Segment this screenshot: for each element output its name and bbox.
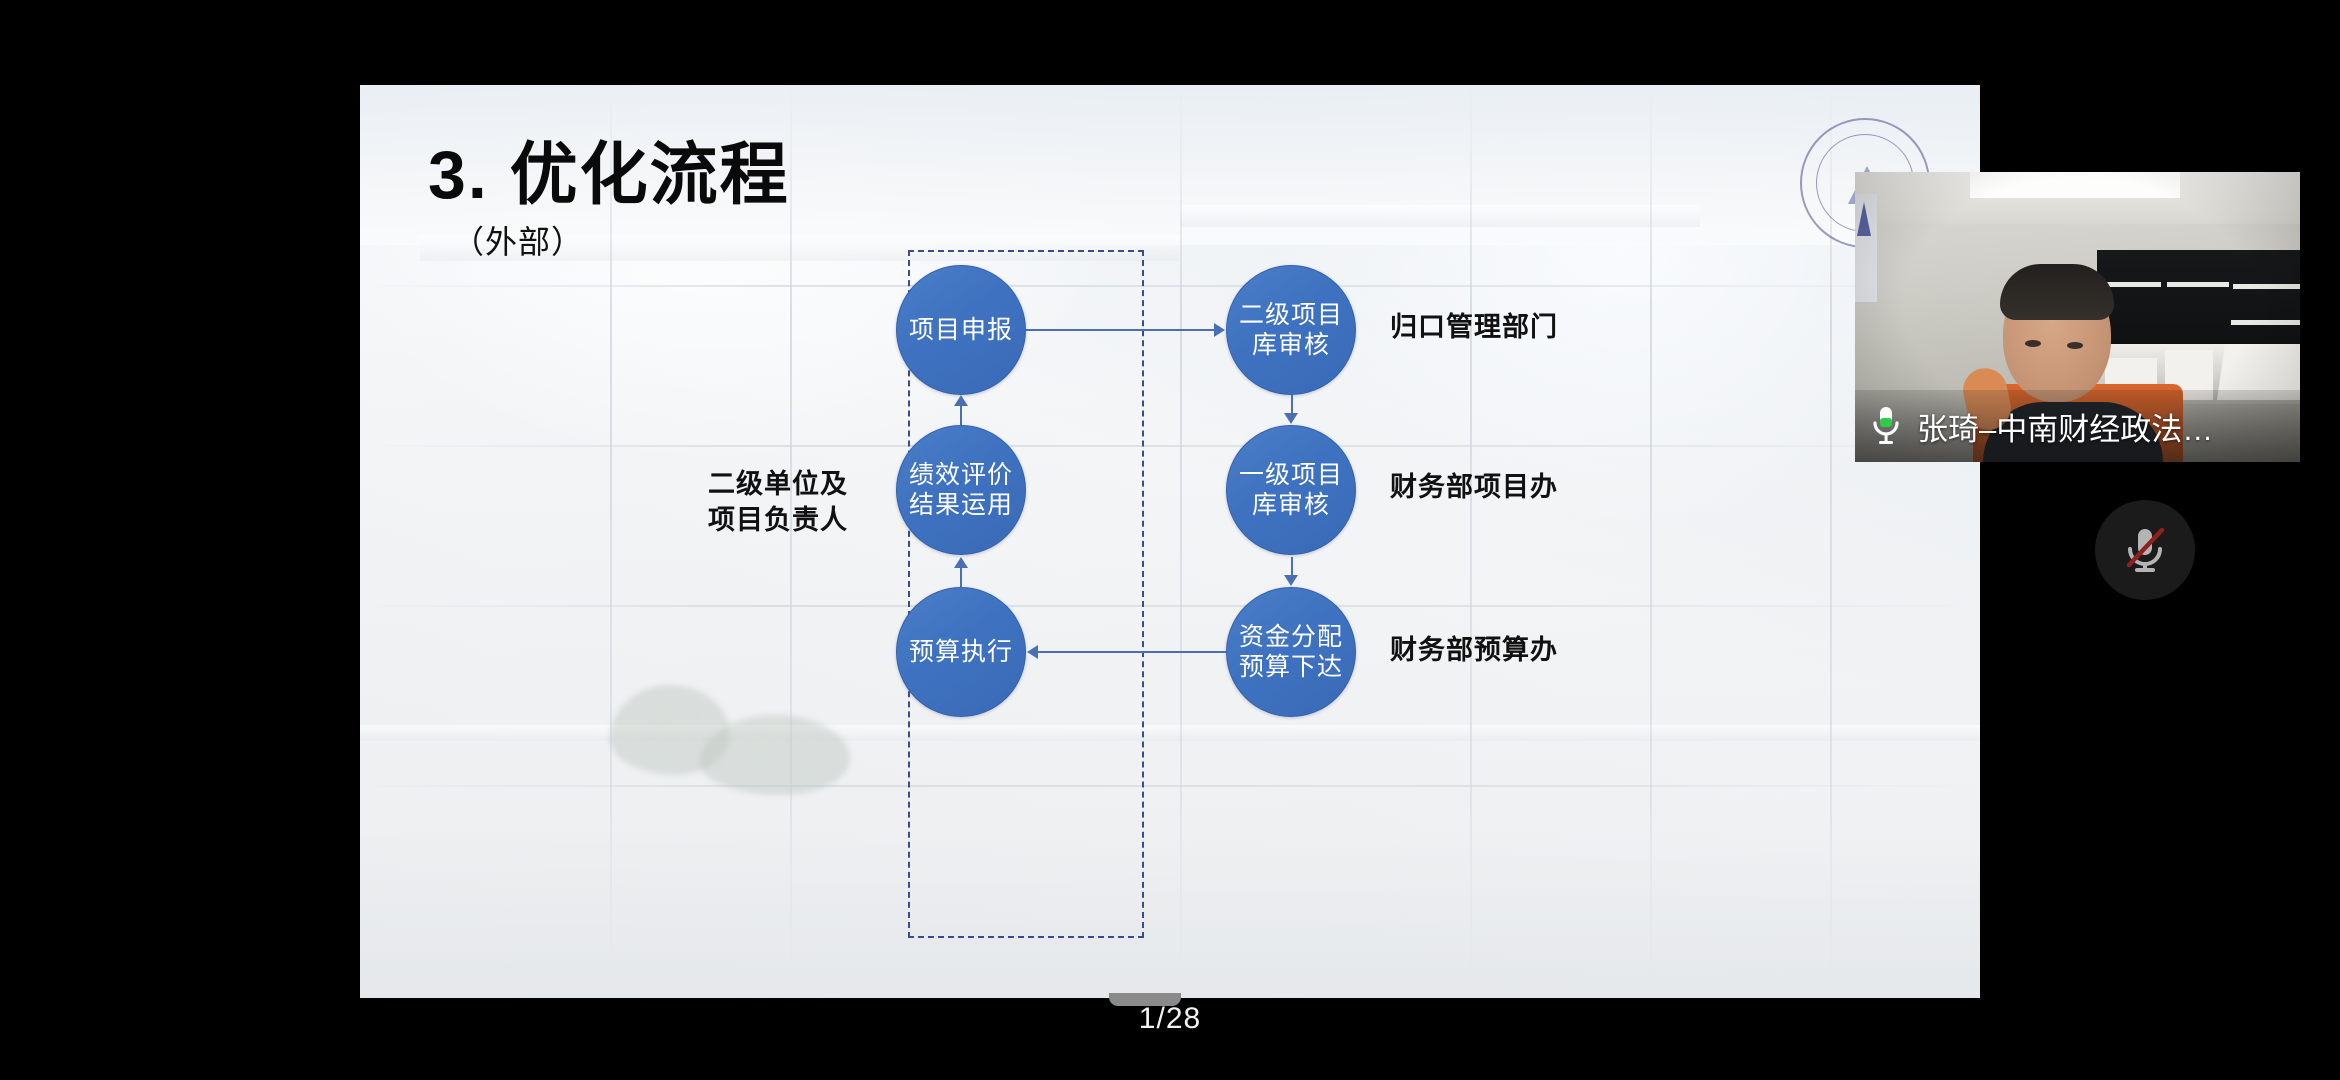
flow-node-budget-execution[interactable]: 预算执行 — [896, 587, 1026, 717]
video-meeting-screen: 3. 优化流程 （外部） 项目申报 绩效评价 结果运用 预算执行 — [0, 0, 2340, 1080]
flow-node-secondary-project-review[interactable]: 二级项目 库审核 — [1226, 265, 1356, 395]
arrowhead-left-icon — [1027, 645, 1038, 659]
flow-node-label: 库审核 — [1239, 490, 1343, 521]
flow-node-fund-allocation[interactable]: 资金分配 预算下达 — [1226, 587, 1356, 717]
participant-name-bar: 张琦–中南财经政法… — [1855, 390, 2300, 462]
flow-node-label: 项目申报 — [909, 315, 1013, 346]
label-secondary-unit-and-owner: 二级单位及 项目负责人 — [708, 467, 908, 538]
flow-node-label: 一级项目 — [1239, 460, 1343, 491]
connector-performance-to-application — [960, 405, 962, 425]
connector-fund-allocation-to-budget-execution — [1038, 651, 1226, 653]
flow-node-label: 库审核 — [1239, 330, 1343, 361]
connector-budget-execution-to-performance — [960, 567, 962, 587]
label-line: 二级单位及 — [708, 467, 908, 503]
label-line: 项目负责人 — [708, 503, 908, 539]
label-finance-project-office: 财务部项目办 — [1390, 470, 1558, 506]
connector-primary-review-to-fund-allocation — [1291, 557, 1293, 577]
participant-video-tile[interactable]: 张琦–中南财经政法… — [1855, 172, 2300, 462]
label-responsible-department: 归口管理部门 — [1390, 310, 1558, 346]
microphone-icon — [1869, 404, 1903, 448]
flow-node-label: 预算执行 — [909, 637, 1013, 668]
arrowhead-down-icon — [1284, 575, 1298, 586]
arrowhead-up-icon — [954, 395, 968, 406]
flow-node-project-application[interactable]: 项目申报 — [896, 265, 1026, 395]
microphone-muted-icon — [2117, 520, 2173, 581]
label-finance-budget-office: 财务部预算办 — [1390, 633, 1558, 669]
flow-node-label: 资金分配 — [1239, 622, 1343, 653]
arrowhead-up-icon — [954, 557, 968, 568]
participant-name: 张琦–中南财经政法… — [1917, 404, 2213, 449]
connector-application-to-secondary-review — [1026, 329, 1214, 331]
shared-slide[interactable]: 3. 优化流程 （外部） 项目申报 绩效评价 结果运用 预算执行 — [360, 85, 1980, 998]
arrowhead-down-icon — [1284, 413, 1298, 424]
flow-node-label: 预算下达 — [1239, 652, 1343, 683]
flow-node-label: 结果运用 — [909, 490, 1013, 521]
flow-node-label: 二级项目 — [1239, 300, 1343, 331]
process-flow-diagram: 项目申报 绩效评价 结果运用 预算执行 二级项目 库审核 — [360, 85, 1980, 998]
mute-toggle-button[interactable] — [2095, 500, 2195, 600]
flow-node-label: 绩效评价 — [909, 460, 1013, 491]
flow-node-primary-project-review[interactable]: 一级项目 库审核 — [1226, 425, 1356, 555]
flow-node-performance-evaluation[interactable]: 绩效评价 结果运用 — [896, 425, 1026, 555]
connector-secondary-to-primary-review — [1291, 395, 1293, 415]
page-indicator: 1/28 — [0, 1002, 2340, 1036]
arrowhead-right-icon — [1214, 323, 1225, 337]
